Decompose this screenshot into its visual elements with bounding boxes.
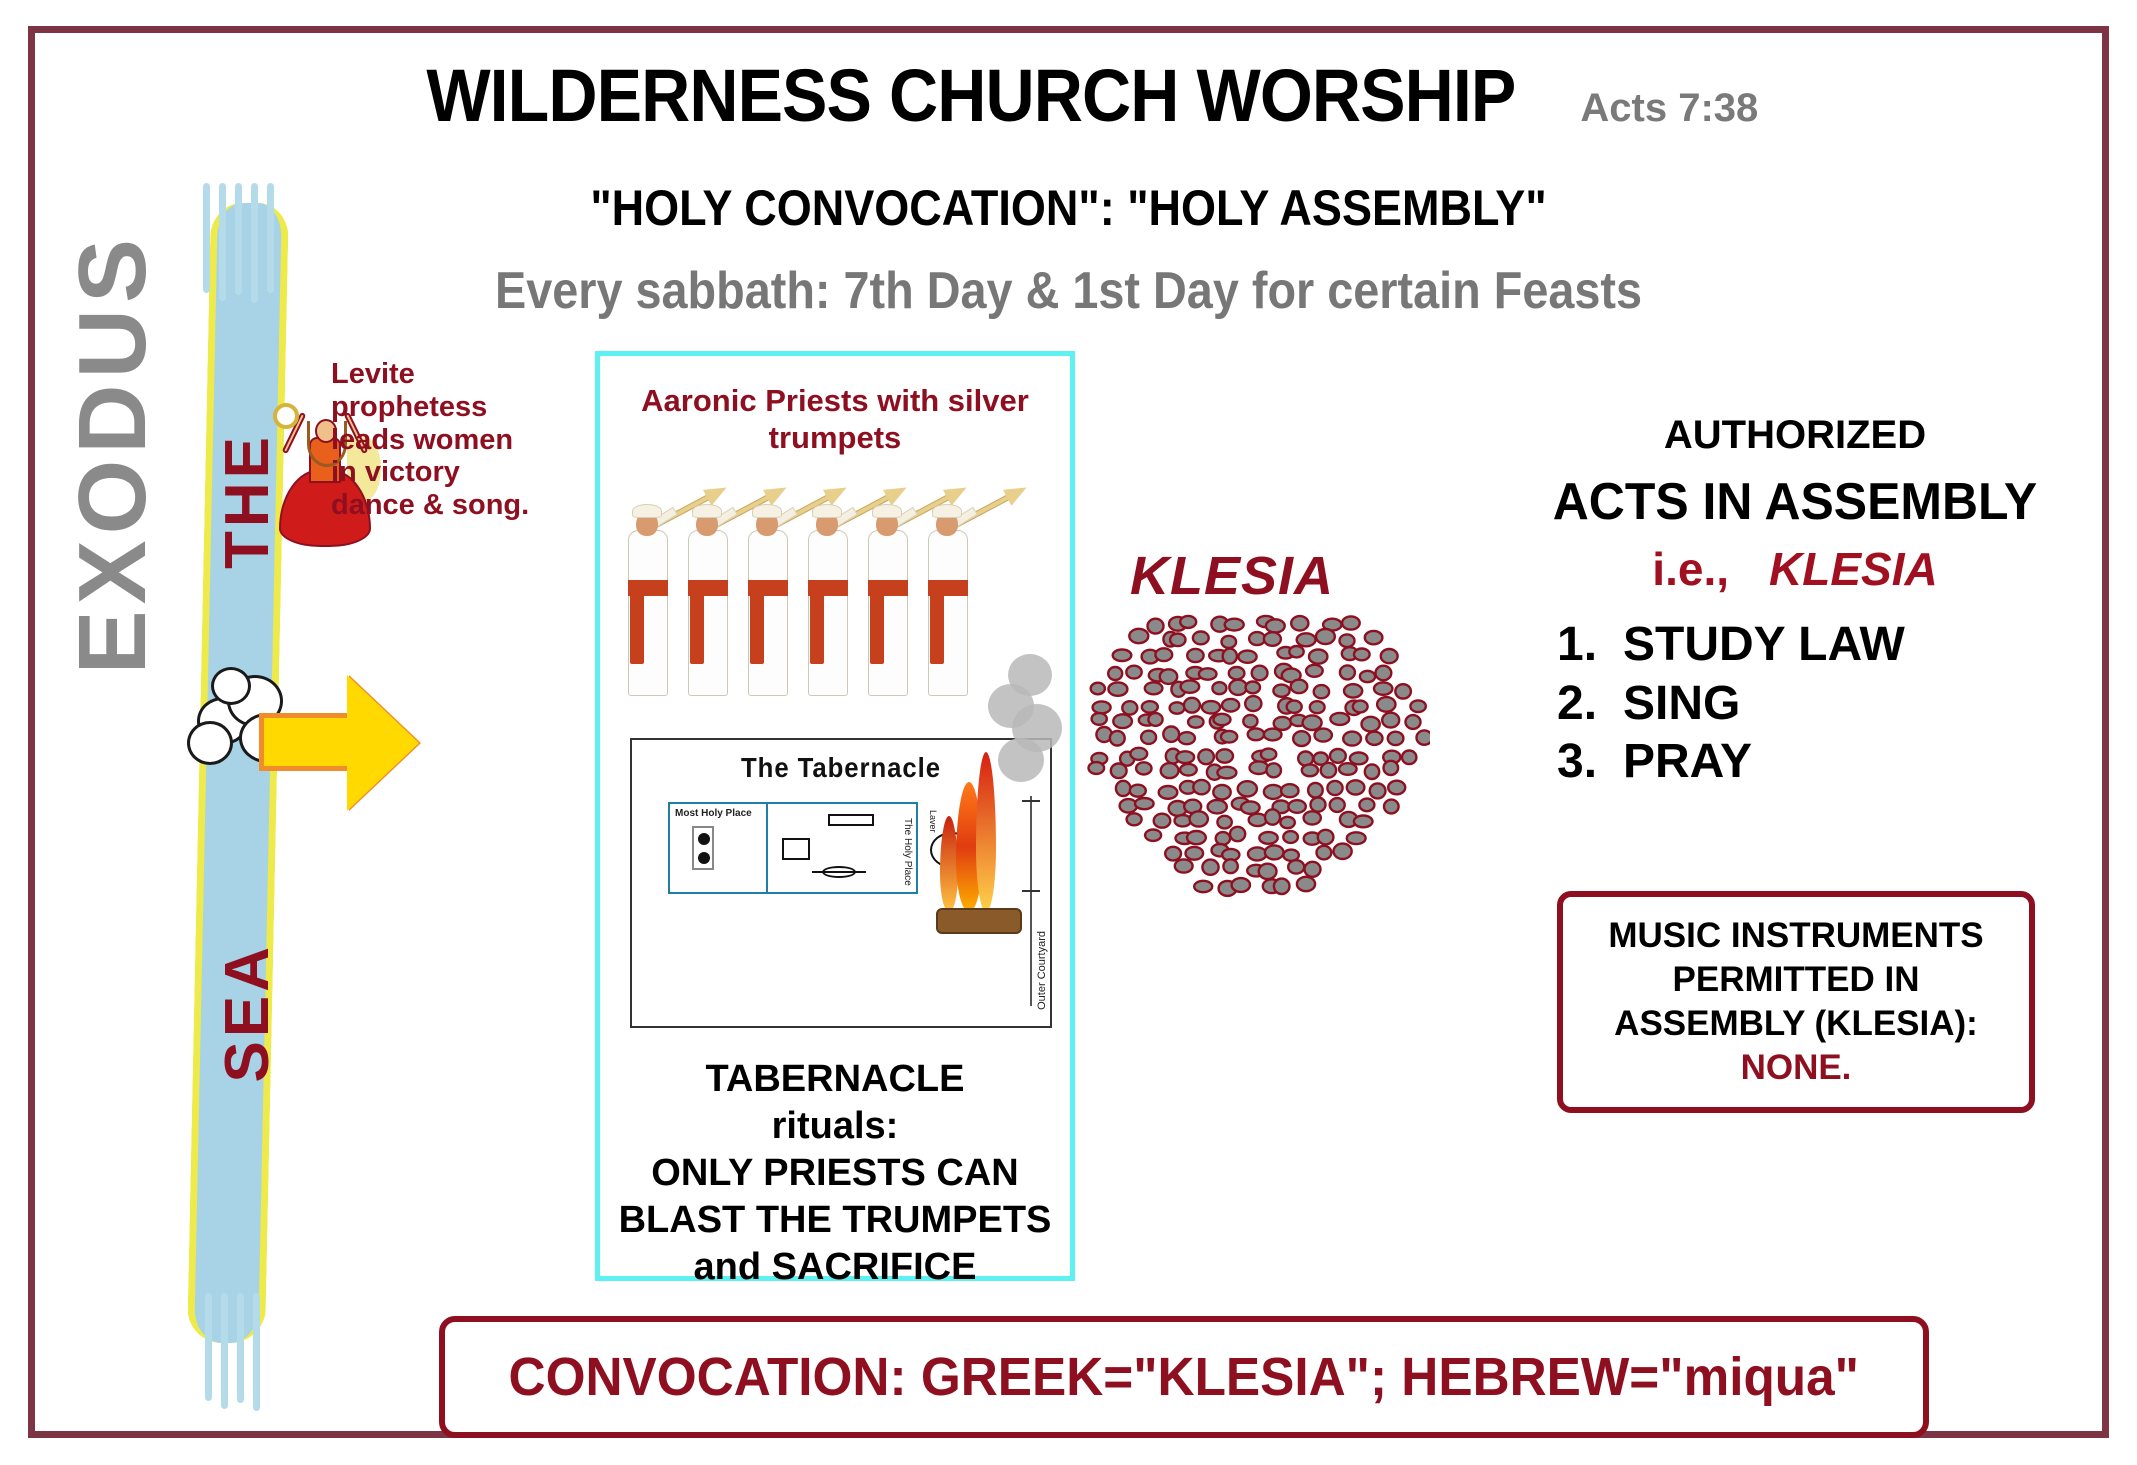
- sea-rib: [237, 1293, 244, 1403]
- act-label: SING: [1623, 677, 1740, 730]
- tabernacle-caption-line: rituals:: [600, 1103, 1070, 1150]
- tabernacle-caption-line: BLAST THE TRUMPETS: [600, 1197, 1070, 1244]
- act-label: PRAY: [1623, 735, 1752, 788]
- red-sea-graphic: THE SEA: [175, 183, 335, 1363]
- tabernacle-caption-line: ONLY PRIESTS CAN: [600, 1150, 1070, 1197]
- music-none-answer: NONE.: [1741, 1046, 1852, 1090]
- holy-place-label: The Holy Place: [902, 818, 913, 886]
- acts-in-assembly-heading: ACTS IN ASSEMBLY: [1517, 472, 2074, 532]
- act-list-item: 3.PRAY: [1557, 733, 2085, 792]
- outer-courtyard-boundary: [1030, 796, 1032, 1006]
- sea-rib: [235, 183, 242, 295]
- ie-klesia-line: i.e.,KLESIA: [1505, 542, 2085, 596]
- priest-figure: [682, 504, 732, 699]
- scripture-reference: Acts 7:38: [1580, 86, 1758, 131]
- klesia-italic: KLESIA: [1769, 543, 1938, 595]
- altar-of-burnt-offering-icon: [932, 750, 1052, 940]
- music-instruments-box: MUSIC INSTRUMENTS PERMITTED IN ASSEMBLY …: [1557, 891, 2035, 1113]
- subtitle-holy-convocation: "HOLY CONVOCATION": "HOLY ASSEMBLY": [138, 179, 1998, 237]
- page-title: WILDERNESS CHURCH WORSHIP: [426, 53, 1515, 138]
- subtitle-every-sabbath: Every sabbath: 7th Day & 1st Day for cer…: [138, 261, 1998, 321]
- priest-figure: [742, 504, 792, 699]
- priest-figure: [802, 504, 852, 699]
- sea-word-the: THE: [217, 433, 279, 569]
- courtyard-tick: [1022, 800, 1040, 802]
- authorized-heading: AUTHORIZED: [1505, 413, 2085, 458]
- convocation-definition-box: CONVOCATION: GREEK="KLESIA"; HEBREW="miq…: [439, 1316, 1929, 1438]
- lampstand-icon: [822, 866, 856, 878]
- most-holy-place-section: Most Holy Place: [670, 804, 768, 892]
- slide-frame: WILDERNESS CHURCH WORSHIPActs 7:38 "HOLY…: [28, 26, 2109, 1438]
- sea-rib: [205, 1293, 212, 1401]
- aaronic-priests-caption: Aaronic Priests with silver trumpets: [600, 382, 1070, 456]
- act-number: 1.: [1557, 616, 1623, 675]
- sea-rib: [253, 1293, 260, 1411]
- music-line: PERMITTED IN: [1673, 958, 1920, 1002]
- courtyard-tick: [1022, 890, 1040, 892]
- tabernacle-floorplan: Most Holy Place The Holy Place: [668, 802, 918, 894]
- sea-rib: [267, 183, 274, 293]
- exodus-direction-arrow-icon: [259, 673, 419, 813]
- act-list-item: 1.STUDY LAW: [1557, 616, 2085, 675]
- act-number: 2.: [1557, 675, 1623, 734]
- sea-rib: [221, 1293, 228, 1409]
- title-row: WILDERNESS CHURCH WORSHIPActs 7:38: [35, 53, 2102, 138]
- priest-figure: [862, 504, 912, 699]
- tambourine-icon: [273, 403, 299, 429]
- ark-of-covenant-icon: [692, 826, 714, 870]
- sea-rib: [251, 183, 258, 303]
- priest-figure: [622, 504, 672, 699]
- priest-figure: [922, 504, 972, 699]
- tabernacle-caption-line: and SACRIFICE: [600, 1244, 1070, 1291]
- ie-prefix: i.e.,: [1652, 543, 1729, 595]
- exodus-text: EXODUS: [65, 233, 175, 674]
- authorized-acts-panel: AUTHORIZED ACTS IN ASSEMBLY i.e.,KLESIA …: [1505, 413, 2085, 792]
- authorized-acts-list: 1.STUDY LAW 2.SING 3.PRAY: [1505, 616, 2085, 792]
- holy-place-section: The Holy Place: [768, 804, 916, 892]
- altar-of-incense-icon: [782, 838, 810, 860]
- convocation-definition-text: CONVOCATION: GREEK="KLESIA"; HEBREW="miq…: [509, 1346, 1859, 1408]
- tabernacle-caption-line: TABERNACLE: [600, 1056, 1070, 1103]
- tabernacle-rituals-caption: TABERNACLE rituals: ONLY PRIESTS CAN BLA…: [600, 1056, 1070, 1292]
- act-list-item: 2.SING: [1557, 675, 2085, 734]
- outer-courtyard-label: Outer Courtyard: [1036, 931, 1048, 1010]
- table-of-showbread-icon: [828, 814, 874, 826]
- act-number: 3.: [1557, 733, 1623, 792]
- sea-rib: [219, 183, 226, 301]
- tabernacle-panel: Aaronic Priests with silver trumpets: [595, 351, 1075, 1281]
- tabernacle-diagram: The Tabernacle Most Holy Place The Holy …: [630, 738, 1052, 1028]
- music-line: MUSIC INSTRUMENTS: [1608, 914, 1983, 958]
- exodus-vertical-label: EXODUS: [65, 233, 175, 873]
- levite-prophetess-caption: Levite prophetess leads women in victory…: [331, 358, 536, 522]
- klesia-crowd-illustration: [1080, 613, 1430, 903]
- most-holy-place-label: Most Holy Place: [675, 808, 752, 819]
- music-line: ASSEMBLY (KLESIA):: [1614, 1002, 1978, 1046]
- klesia-crowd-label: KLESIA: [1130, 545, 1334, 607]
- sea-word-sea: SEA: [217, 943, 279, 1082]
- act-label: STUDY LAW: [1623, 618, 1905, 671]
- sea-rib: [203, 183, 210, 293]
